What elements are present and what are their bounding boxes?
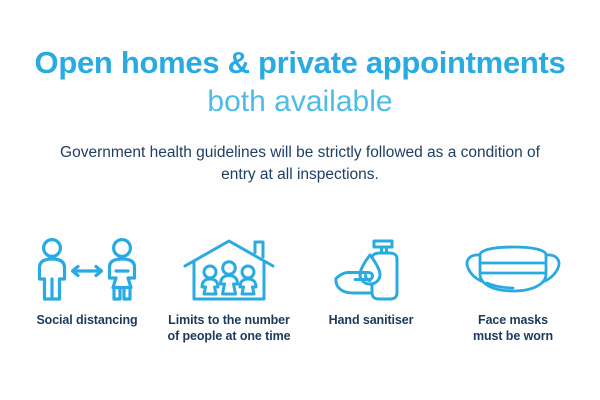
- intro-line-1: Government health guidelines will be str…: [35, 142, 565, 164]
- caption-line: must be worn: [473, 329, 553, 345]
- page-subtitle: both available: [0, 85, 600, 120]
- caption-line: Hand sanitiser: [329, 313, 414, 329]
- covid-safety-poster: Open homes & private appointments both a…: [0, 0, 600, 400]
- intro-paragraph: Government health guidelines will be str…: [35, 142, 565, 187]
- caption-line: Social distancing: [36, 313, 137, 329]
- guideline-caption-face-mask: Face masks must be worn: [473, 313, 553, 344]
- guideline-item-people-limit: Limits to the number of people at one ti…: [158, 236, 300, 344]
- guideline-item-social-distancing: Social distancing: [16, 236, 158, 329]
- headline-block: Open homes & private appointments both a…: [0, 0, 600, 120]
- face-mask-icon: [463, 236, 563, 304]
- guideline-caption-people-limit: Limits to the number of people at one ti…: [168, 313, 291, 344]
- guideline-caption-social-distancing: Social distancing: [36, 313, 137, 329]
- hand-sanitiser-icon: [330, 236, 412, 304]
- caption-line: Limits to the number: [168, 313, 291, 329]
- guideline-item-face-mask: Face masks must be worn: [442, 236, 584, 344]
- guideline-item-hand-sanitiser: Hand sanitiser: [300, 236, 442, 329]
- caption-line: of people at one time: [168, 329, 291, 345]
- intro-line-2: entry at all inspections.: [35, 164, 565, 186]
- house-people-limit-icon: [181, 236, 277, 304]
- page-title: Open homes & private appointments: [0, 46, 600, 79]
- guideline-caption-hand-sanitiser: Hand sanitiser: [329, 313, 414, 329]
- caption-line: Face masks: [473, 313, 553, 329]
- guideline-icon-row: Social distancing: [0, 236, 600, 344]
- social-distancing-icon: [28, 236, 146, 304]
